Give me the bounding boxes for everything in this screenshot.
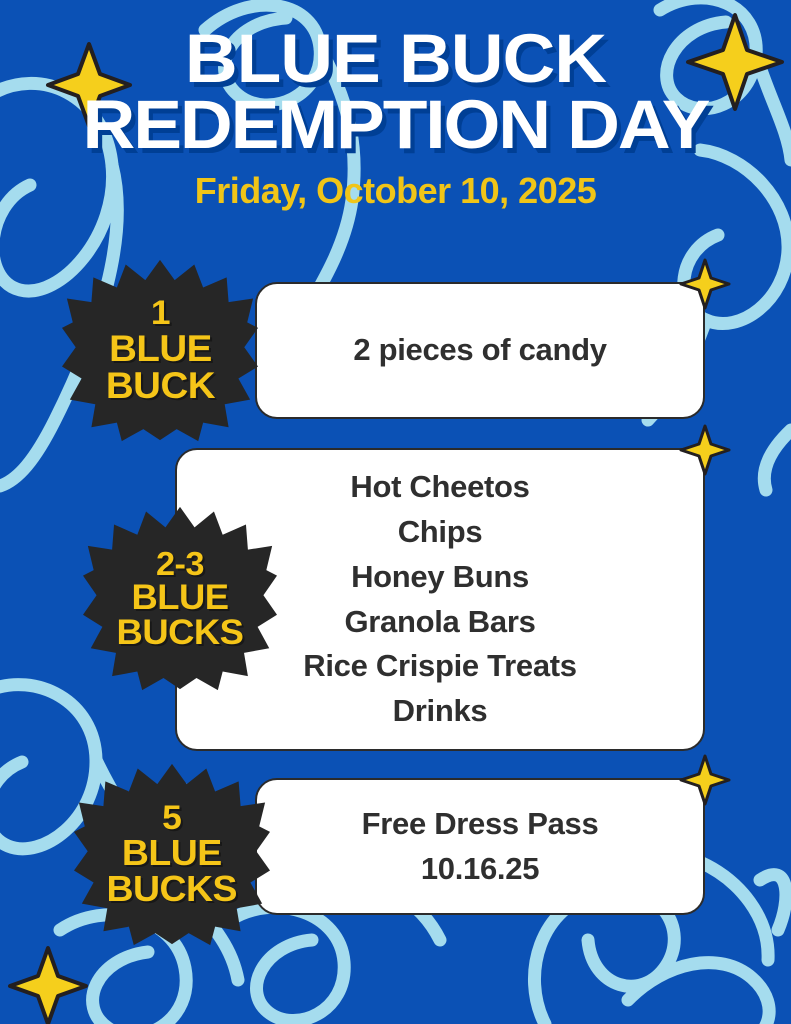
card-sparkle-icon — [679, 258, 731, 310]
badge-amount: 1 — [105, 296, 214, 330]
badge-word-1: BLUE — [117, 580, 244, 615]
tier-badge-3: 5 BLUE BUCKS — [74, 762, 270, 946]
card-sparkle-icon — [679, 424, 731, 476]
tier-item: Drinks — [393, 689, 488, 734]
tier-badge-1: 1 BLUE BUCK — [62, 258, 258, 442]
tier-item: Hot Cheetos — [350, 465, 529, 510]
badge-word-1: BLUE — [105, 330, 214, 367]
tier-list: 2 pieces of candy 1 BLUE BUCK — [0, 0, 791, 1024]
badge-word-2: BUCK — [105, 367, 214, 404]
tier-item: Granola Bars — [344, 600, 535, 645]
poster-canvas: BLUE BUCK REDEMPTION DAY Friday, October… — [0, 0, 791, 1024]
tier-item: 2 pieces of candy — [353, 328, 606, 373]
tier-card-1: 2 pieces of candy — [255, 282, 705, 419]
tier-item: Rice Crispie Treats — [303, 644, 576, 689]
badge-word-2: BUCKS — [117, 615, 244, 650]
badge-amount: 5 — [107, 801, 238, 835]
tier-item: Chips — [398, 510, 483, 555]
card-sparkle-icon — [679, 754, 731, 806]
tier-card-3: Free Dress Pass 10.16.25 — [255, 778, 705, 915]
tier-item: Free Dress Pass — [362, 802, 599, 847]
badge-text-2: 2-3 BLUE BUCKS — [117, 547, 244, 650]
badge-word-1: BLUE — [107, 835, 238, 871]
tier-item: Honey Buns — [351, 555, 529, 600]
badge-text-3: 5 BLUE BUCKS — [107, 801, 238, 907]
badge-text-1: 1 BLUE BUCK — [105, 296, 214, 404]
badge-word-2: BUCKS — [107, 871, 238, 907]
badge-amount: 2-3 — [117, 547, 244, 580]
tier-item: 10.16.25 — [421, 847, 539, 892]
tier-badge-2: 2-3 BLUE BUCKS — [83, 505, 277, 691]
